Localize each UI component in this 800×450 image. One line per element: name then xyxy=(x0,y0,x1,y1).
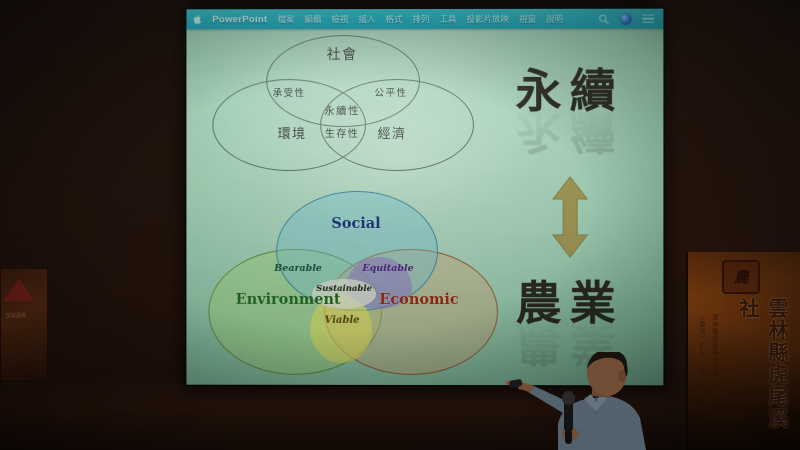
venn-en-label-social: Social xyxy=(306,215,406,232)
menu-item-format[interactable]: 格式 xyxy=(385,13,402,25)
menu-item-view[interactable]: 檢視 xyxy=(331,13,348,25)
venn-cn-label-viable: 生存性 xyxy=(312,125,372,140)
banner-title: 雲林縣虎尾溪社 xyxy=(734,298,792,450)
banner-address-line: 雲林縣虎尾鎮文化路 xyxy=(710,314,719,377)
banner-seal-text: 農 xyxy=(733,267,748,288)
banner-phone-line: （電話）05-6311023 xyxy=(697,314,706,422)
notification-center-icon[interactable] xyxy=(642,14,654,23)
venn-diagram-english: Social Environment Economic Bearable Equ… xyxy=(196,187,496,377)
venn-cn-label-bearable: 承受性 xyxy=(260,85,318,99)
menu-item-arrange[interactable]: 排列 xyxy=(412,13,429,25)
menu-item-insert[interactable]: 插入 xyxy=(358,13,375,25)
menu-item-window[interactable]: 視窗 xyxy=(519,13,536,25)
wall-banner-right: 農 雲林縣虎尾溪社 雲林縣虎尾鎮文化路 （電話）05-6311023 xyxy=(686,252,800,450)
venn-en-label-equitable: Equitable xyxy=(348,263,428,274)
slide-canvas: 社會 環境 經濟 承受性 公平性 生存性 永續性 Social Environm… xyxy=(186,29,663,386)
menu-item-file[interactable]: 檔案 xyxy=(277,13,294,25)
menu-item-help[interactable]: 說明 xyxy=(546,13,563,25)
headline-top-reflection: 永續 xyxy=(482,101,657,167)
menubar-app-name[interactable]: PowerPoint xyxy=(212,14,267,25)
venn-cn-label-sustainable: 永續性 xyxy=(312,103,372,118)
siri-icon[interactable] xyxy=(620,13,631,24)
macos-menubar[interactable]: PowerPoint 檔案 編輯 檢視 插入 格式 排列 工具 投影片放映 視窗… xyxy=(186,9,663,30)
poster-triangle-graphic xyxy=(3,279,35,301)
poster-left-caption: 空氣品質 xyxy=(6,313,43,321)
menu-item-tools[interactable]: 工具 xyxy=(439,13,456,25)
double-headed-vertical-arrow-icon xyxy=(547,175,593,259)
venn-en-label-sustainable: Sustainable xyxy=(310,284,378,294)
venn-cn-label-equitable: 公平性 xyxy=(362,85,420,99)
venn-cn-label-social: 社會 xyxy=(312,44,372,64)
projection-screen: PowerPoint 檔案 編輯 檢視 插入 格式 排列 工具 投影片放映 視窗… xyxy=(186,9,663,386)
venn-en-label-viable: Viable xyxy=(314,315,370,326)
presenter-person xyxy=(500,352,680,450)
apple-logo-icon[interactable] xyxy=(193,14,202,24)
venn-diagram-chinese: 社會 環境 經濟 承受性 公平性 生存性 永續性 xyxy=(204,31,469,176)
wall-poster-left: 空氣品質 xyxy=(0,268,48,382)
banner-seal-icon: 農 xyxy=(722,260,760,294)
menubar-status-area xyxy=(598,13,656,24)
menu-item-slideshow[interactable]: 投影片放映 xyxy=(466,13,509,25)
screenshot-root: 空氣品質 PowerPoint 檔案 編輯 檢視 插入 格式 排列 工具 投影片… xyxy=(0,0,800,450)
room-floor xyxy=(0,382,800,450)
search-icon[interactable] xyxy=(598,13,609,24)
slide-headline-column: 永續 永續 農業 農業 xyxy=(482,39,657,380)
venn-en-label-bearable: Bearable xyxy=(258,263,338,274)
menu-item-edit[interactable]: 編輯 xyxy=(304,13,321,25)
